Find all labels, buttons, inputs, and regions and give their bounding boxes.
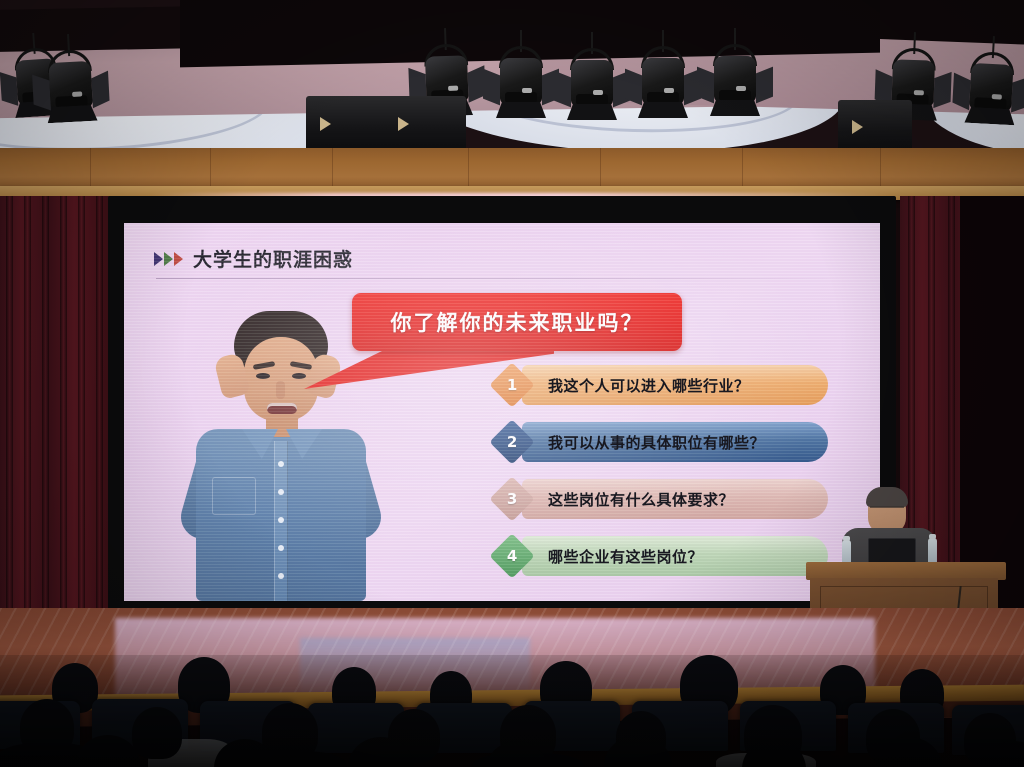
stage-curtain-left bbox=[0, 196, 120, 636]
triangle-play-icon bbox=[320, 117, 331, 131]
list-item-number: 2 bbox=[507, 433, 517, 451]
list-item: 2 我可以从事的具体职位有哪些？ bbox=[496, 422, 828, 462]
stage-light-fixture bbox=[634, 44, 692, 130]
triangle-play-icon bbox=[398, 117, 409, 131]
shirt-pocket bbox=[212, 477, 256, 515]
stage-light-fixture bbox=[960, 49, 1022, 138]
list-item-number: 4 bbox=[507, 547, 517, 565]
pa-speaker-right bbox=[838, 100, 912, 154]
chevron-right-icon bbox=[154, 252, 163, 266]
nose bbox=[276, 381, 285, 399]
list-item-text: 我这个人可以进入哪些行业？ bbox=[548, 375, 750, 396]
slide-question-list: 1 我这个人可以进入哪些行业？ 2 我可以从事的具体职位有哪些？ 3 bbox=[496, 365, 828, 593]
led-screen-bezel: 大学生的职涯困惑 bbox=[108, 196, 896, 616]
list-item-text: 这些岗位有什么具体要求？ bbox=[548, 489, 734, 510]
audience-area bbox=[0, 655, 1024, 767]
chevron-right-icon bbox=[164, 252, 173, 266]
presenter-glasses bbox=[870, 506, 904, 514]
speech-bubble-body: 你了解你的未来职业吗？ bbox=[352, 293, 682, 351]
mouth bbox=[267, 403, 297, 414]
speech-bubble-text: 你了解你的未来职业吗？ bbox=[391, 307, 644, 337]
chevron-right-icon bbox=[174, 252, 183, 266]
list-item-number: 3 bbox=[507, 490, 517, 508]
presentation-slide: 大学生的职涯困惑 bbox=[124, 223, 880, 601]
stage-light-fixture bbox=[492, 44, 550, 130]
auditorium-photo: 大学生的职涯困惑 bbox=[0, 0, 1024, 767]
slide-title: 大学生的职涯困惑 bbox=[193, 245, 353, 272]
list-item: 4 哪些企业有这些岗位？ bbox=[496, 536, 828, 576]
stage-light-fixture bbox=[40, 47, 102, 136]
stage-light-fixture bbox=[706, 42, 764, 128]
list-item-text: 哪些企业有这些岗位？ bbox=[548, 546, 703, 567]
chevron-group-icon bbox=[154, 252, 183, 266]
eye-right bbox=[292, 373, 306, 379]
eye-left bbox=[256, 373, 270, 379]
list-item: 3 这些岗位有什么具体要求？ bbox=[496, 479, 828, 519]
list-item: 1 我这个人可以进入哪些行业？ bbox=[496, 365, 828, 405]
list-item-number: 1 bbox=[507, 376, 517, 394]
presenter-hair bbox=[866, 487, 908, 507]
triangle-play-icon bbox=[852, 120, 863, 134]
stage-light-fixture bbox=[563, 46, 621, 132]
list-item-text: 我可以从事的具体职位有哪些？ bbox=[548, 432, 765, 453]
water-bottle bbox=[928, 538, 937, 564]
confused-student-photo bbox=[182, 311, 378, 601]
audience-head bbox=[132, 707, 182, 759]
pa-speaker-left bbox=[306, 96, 466, 152]
slide-header: 大学生的职涯困惑 bbox=[154, 245, 353, 272]
slide-title-divider bbox=[156, 278, 846, 279]
